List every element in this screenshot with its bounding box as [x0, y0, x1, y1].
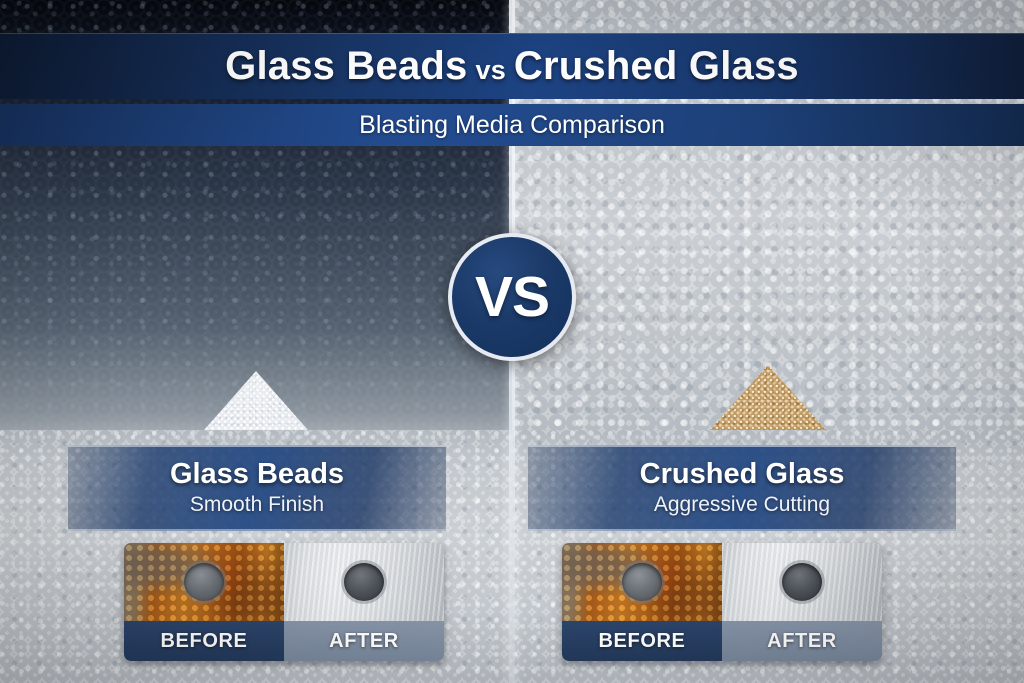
right-media-trait: Aggressive Cutting — [654, 493, 830, 517]
left-media-label-band: Glass Beads Smooth Finish — [68, 445, 446, 531]
left-media-name: Glass Beads — [170, 459, 344, 491]
right-before-after-images — [562, 543, 882, 621]
subtitle-band: Blasting Media Comparison — [0, 104, 1024, 146]
title-band: Glass BeadsvsCrushed Glass — [0, 33, 1024, 99]
title-vs-word: vs — [475, 55, 505, 85]
vs-badge: VS — [448, 233, 576, 361]
right-before-after-labels: BEFORE AFTER — [562, 621, 882, 661]
right-after-label: AFTER — [722, 621, 882, 661]
right-before-label: BEFORE — [562, 621, 722, 661]
vs-badge-label: VS — [475, 264, 549, 330]
bolt-hole-icon — [622, 563, 662, 601]
bolt-hole-icon — [184, 563, 224, 601]
title-left-term: Glass Beads — [225, 44, 467, 88]
left-before-after-panel: BEFORE AFTER — [124, 543, 444, 661]
bolt-hole-icon — [782, 563, 822, 601]
right-media-label-band: Crushed Glass Aggressive Cutting — [528, 445, 956, 531]
left-before-label: BEFORE — [124, 621, 284, 661]
page-subtitle: Blasting Media Comparison — [359, 111, 665, 140]
left-media-trait: Smooth Finish — [190, 493, 324, 517]
page-title: Glass BeadsvsCrushed Glass — [225, 44, 799, 89]
left-after-plate-image — [284, 543, 444, 621]
left-before-plate-image — [124, 543, 284, 621]
right-media-name: Crushed Glass — [640, 459, 845, 491]
comparison-infographic: Glass BeadsvsCrushed Glass Blasting Medi… — [0, 0, 1024, 683]
right-before-plate-image — [562, 543, 722, 621]
right-after-plate-image — [722, 543, 882, 621]
left-before-after-labels: BEFORE AFTER — [124, 621, 444, 661]
bolt-hole-icon — [344, 563, 384, 601]
title-right-term: Crushed Glass — [514, 44, 799, 88]
left-before-after-images — [124, 543, 444, 621]
right-before-after-panel: BEFORE AFTER — [562, 543, 882, 661]
left-after-label: AFTER — [284, 621, 444, 661]
